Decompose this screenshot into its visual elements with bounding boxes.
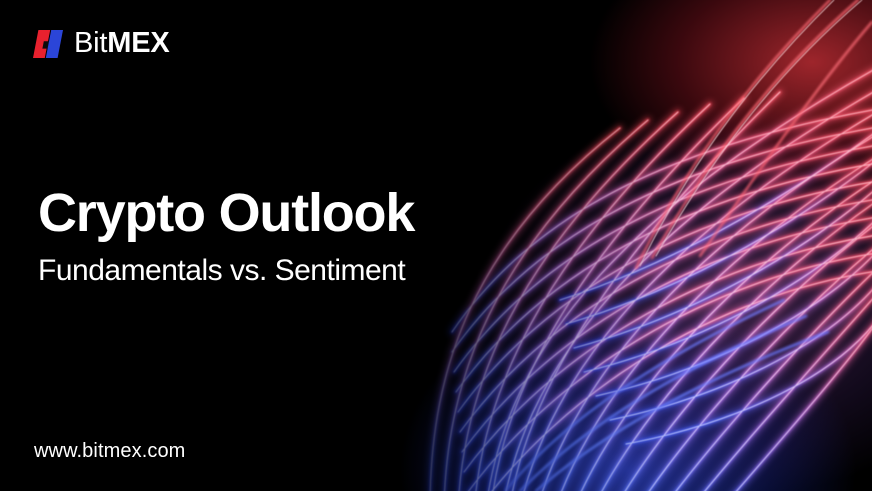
site-url[interactable]: www.bitmex.com bbox=[34, 440, 185, 463]
promo-banner: BitMEX Crypto Outlook Fundamentals vs. S… bbox=[0, 0, 872, 491]
bitmex-logo[interactable]: BitMEX bbox=[33, 29, 170, 58]
wordmark-bit: Bit bbox=[74, 27, 107, 59]
headline-block: Crypto Outlook Fundamentals vs. Sentimen… bbox=[38, 186, 558, 287]
page-title: Crypto Outlook bbox=[38, 186, 558, 241]
bitmex-wordmark: BitMEX bbox=[74, 29, 170, 58]
bitmex-logo-mark bbox=[33, 30, 63, 58]
page-subtitle: Fundamentals vs. Sentiment bbox=[38, 254, 558, 287]
wordmark-mex: MEX bbox=[107, 27, 169, 59]
